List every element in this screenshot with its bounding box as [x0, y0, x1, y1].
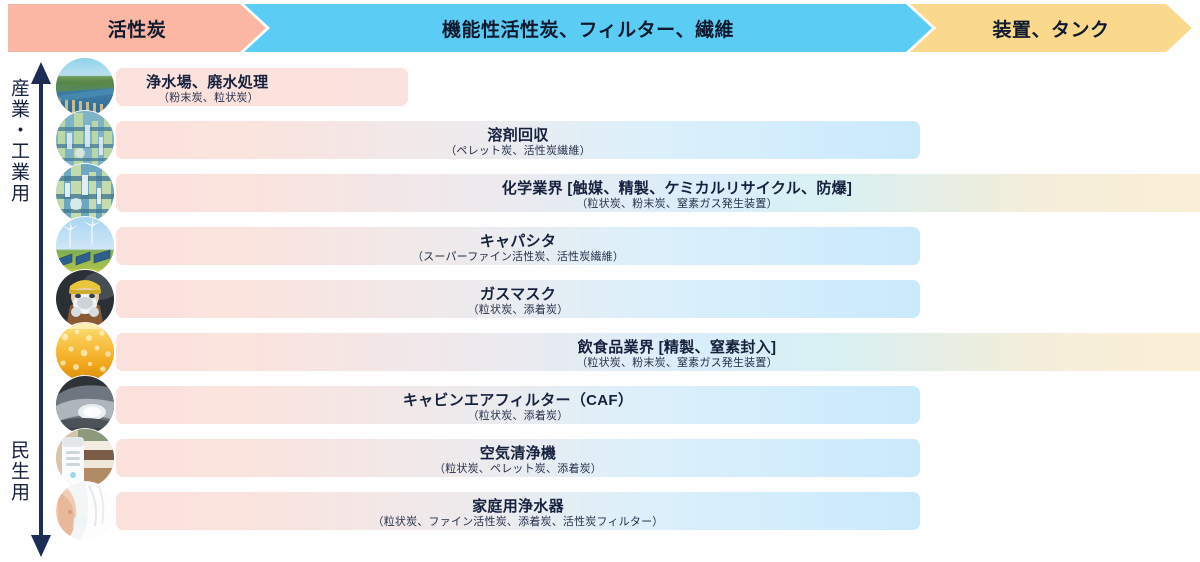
- band-functional-carbon: 機能性活性炭、フィルター、繊維: [244, 4, 932, 52]
- row-bar[interactable]: キャパシタ （スーパーファイン活性炭、活性炭繊維）: [116, 227, 920, 265]
- double-arrow-icon: [30, 62, 52, 557]
- car-headlight-photo: [56, 376, 114, 434]
- row-bar[interactable]: ガスマスク （粒状炭、添着炭）: [116, 280, 920, 318]
- row-bar[interactable]: キャビンエアフィルター（CAF） （粒状炭、添着炭）: [116, 386, 920, 424]
- row-materials: （粒状炭、ファイン活性炭、添着炭、活性炭フィルター）: [116, 513, 920, 529]
- axis-label-industrial: 産業・工業用: [2, 78, 28, 204]
- diagram-canvas: 活性炭 機能性活性炭、フィルター、繊維 装置、タンク 産業・工業用 民生用 浄水…: [0, 0, 1200, 562]
- gas-mask-worker-photo: [56, 270, 114, 328]
- row-materials: （粒状炭、粉末炭、窒素ガス発生装置）: [116, 195, 1200, 211]
- axis-label-consumer: 民生用: [2, 440, 28, 503]
- band-label: 機能性活性炭、フィルター、繊維: [244, 4, 932, 52]
- band-activated-carbon: 活性炭: [8, 4, 266, 52]
- row-materials: （スーパーファイン活性炭、活性炭繊維）: [116, 248, 920, 264]
- row-bar[interactable]: 化学業界 [触媒、精製、ケミカルリサイクル、防爆] （粒状炭、粉末炭、窒素ガス発…: [116, 174, 1200, 212]
- row-materials: （粒状炭、ペレット炭、添着炭）: [116, 460, 920, 476]
- beverage-glass-photo: [56, 323, 114, 381]
- row-materials: （粉末炭、粒状炭）: [158, 89, 259, 105]
- air-purifier-photo: [56, 429, 114, 487]
- row-bar[interactable]: 浄水場、廃水処理 （粉末炭、粒状炭）: [116, 68, 408, 106]
- row-materials: （粒状炭、粉末炭、窒素ガス発生装置）: [116, 354, 1200, 370]
- chemical-plant-photo: [56, 111, 114, 169]
- band-label: 装置、タンク: [910, 4, 1192, 52]
- vertical-scale-arrow: [30, 62, 52, 557]
- band-label: 活性炭: [8, 4, 266, 52]
- row-bar[interactable]: 飲食品業界 [精製、窒素封入] （粒状炭、粉末炭、窒素ガス発生装置）: [116, 333, 1200, 371]
- solar-wind-farm-photo: [56, 217, 114, 275]
- band-equipment-tank: 装置、タンク: [910, 4, 1192, 52]
- row-materials: （粒状炭、添着炭）: [116, 301, 920, 317]
- row-bar[interactable]: 家庭用浄水器 （粒状炭、ファイン活性炭、添着炭、活性炭フィルター）: [116, 492, 920, 530]
- row-materials: （粒状炭、添着炭）: [116, 407, 920, 423]
- row-bar[interactable]: 溶剤回収 （ペレット炭、活性炭繊維）: [116, 121, 920, 159]
- row-materials: （ペレット炭、活性炭繊維）: [116, 142, 920, 158]
- person-drinking-water-photo: [56, 482, 114, 540]
- chemical-pipes-photo: [56, 164, 114, 222]
- water-treatment-plant-photo: [56, 58, 114, 116]
- row-bar[interactable]: 空気清浄機 （粒状炭、ペレット炭、添着炭）: [116, 439, 920, 477]
